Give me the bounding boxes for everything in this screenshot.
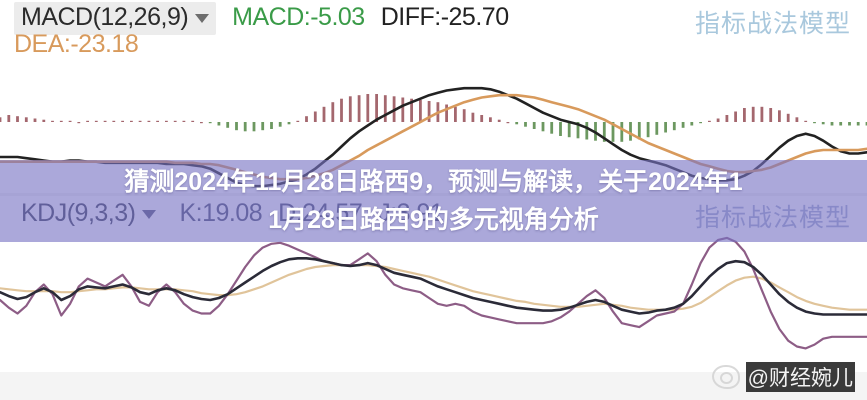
chevron-down-icon[interactable] — [195, 14, 209, 23]
overlay-title-line-2: 1月28日路西9的多元视角分析 — [268, 201, 599, 239]
macd-legend-row-2: DEA:-23.18 — [14, 30, 138, 59]
model-watermark-macd: 指标战法模型 — [695, 4, 851, 40]
diff-value: DIFF:-25.70 — [381, 3, 509, 32]
weibo-icon — [712, 365, 740, 389]
macd-value: MACD:-5.03 — [232, 3, 365, 32]
weibo-watermark: @财经婉儿 — [712, 362, 855, 392]
dea-value: DEA:-23.18 — [14, 30, 138, 59]
title-overlay-banner: 猜测2024年11月28日路西9，预测与解读，关于2024年1 1月28日路西9… — [0, 160, 867, 242]
weibo-handle: @财经婉儿 — [746, 362, 855, 392]
stock-indicator-screenshot: MACD(12,26,9) MACD:-5.03 DIFF:-25.70 DEA… — [0, 0, 867, 400]
overlay-title-line-1: 猜测2024年11月28日路西9，预测与解读，关于2024年1 — [124, 163, 742, 201]
macd-indicator-label: MACD(12,26,9) — [21, 3, 188, 32]
